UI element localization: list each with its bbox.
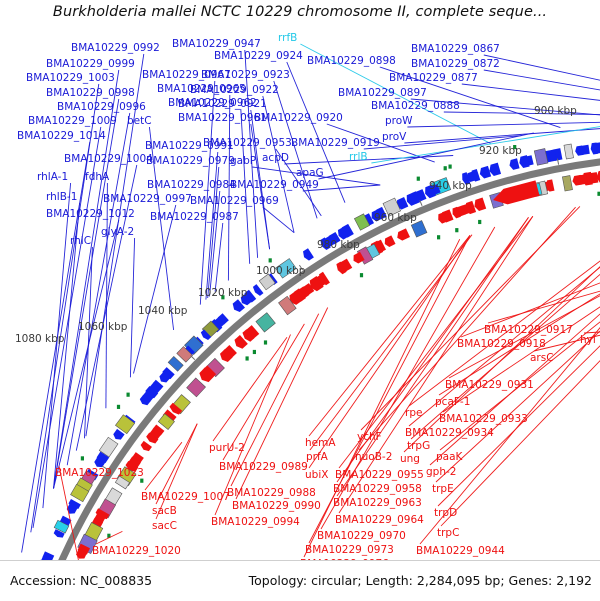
gene-label[interactable]: BMA10229_0919 xyxy=(291,138,380,149)
gene-label[interactable]: BMA10229_0867 xyxy=(411,44,500,55)
gene-label[interactable]: BMA10229_0984 xyxy=(147,180,236,191)
gene-label[interactable]: BMA10229_1020 xyxy=(92,546,181,557)
gene-label[interactable]: rhlA-1 xyxy=(37,172,68,183)
gene-label[interactable]: BMA10229_0996 xyxy=(57,102,146,113)
ruler-tick-label: 960 kbp xyxy=(374,213,417,224)
gene-label[interactable]: BMA10229_0988 xyxy=(227,488,316,499)
gene-label[interactable]: BMA10229_0973 xyxy=(305,545,394,556)
gene-label[interactable]: gabP xyxy=(230,156,256,167)
gene-label[interactable]: fdhA xyxy=(85,172,109,183)
gene-label[interactable]: BMA10229_0921 xyxy=(178,99,267,110)
gene-label[interactable]: BMA10229_1009 xyxy=(28,116,117,127)
gene-label[interactable]: purU-2 xyxy=(209,443,245,454)
gene-label[interactable]: BMA10229_0924 xyxy=(214,51,303,62)
gene-label[interactable]: rrlB xyxy=(349,152,368,163)
gene-label[interactable]: BMA10229_0872 xyxy=(411,59,500,70)
gene-label[interactable]: trpG xyxy=(407,441,430,452)
gene-label[interactable]: sacB xyxy=(152,506,177,517)
gene-label[interactable]: rhlB-1 xyxy=(46,192,77,203)
gene-label[interactable]: BMA10229_1007 xyxy=(141,492,230,503)
gene-label[interactable]: prfA xyxy=(306,452,328,463)
ruler-tick-label: 1040 kbp xyxy=(138,306,187,317)
gene-label[interactable]: BMA10229_0918 xyxy=(457,339,546,350)
gene-label[interactable]: hyi xyxy=(580,335,596,346)
gene-label[interactable]: BMA10229_0931 xyxy=(445,380,534,391)
gene-label[interactable]: BMA10229_0955 xyxy=(335,470,424,481)
topology-text: Topology: circular; Length: 2,284,095 bp… xyxy=(249,573,592,588)
gene-label[interactable]: BMA10229_0898 xyxy=(307,56,396,67)
gene-label[interactable]: BMA10229_0920 xyxy=(254,113,343,124)
gene-label[interactable]: BMA10229_0958 xyxy=(333,484,422,495)
gene-label[interactable]: BMA10229_0990 xyxy=(232,501,321,512)
gene-label[interactable]: BMA10229_0970 xyxy=(317,531,406,542)
gene-label[interactable]: trpC xyxy=(437,528,459,539)
gene-label[interactable]: BMA10229_0947 xyxy=(172,39,261,50)
gene-label[interactable]: sacC xyxy=(152,521,177,532)
gene-label[interactable]: BMA10229_1023 xyxy=(55,468,144,479)
gene-label[interactable]: BMA10229_0994 xyxy=(211,517,300,528)
gene-label[interactable]: trpD xyxy=(434,508,457,519)
ruler-tick-label: 980 kbp xyxy=(317,240,360,251)
gene-label[interactable]: BMA10229_0969 xyxy=(190,196,279,207)
gene-label[interactable]: BMA10229_0989 xyxy=(219,462,308,473)
gene-label[interactable]: pcaF-1 xyxy=(435,397,470,408)
gene-label[interactable]: nuoB-2 xyxy=(355,452,392,463)
gene-label[interactable]: BMA10229_0949 xyxy=(230,180,319,191)
gene-label[interactable]: BMA10229_0877 xyxy=(389,73,478,84)
gene-label[interactable]: rrfB xyxy=(278,33,297,44)
gene-label[interactable]: BMA10229_0917 xyxy=(484,325,573,336)
gene-label[interactable]: ychF xyxy=(357,432,382,443)
gene-label[interactable]: betC xyxy=(127,116,152,127)
gene-label[interactable]: BMA10229_0999 xyxy=(46,59,135,70)
gene-label[interactable]: BMA10229_0944 xyxy=(416,546,505,557)
gene-label[interactable]: BMA10229_0933 xyxy=(439,414,528,425)
gene-label[interactable]: BMA10229_0997 xyxy=(103,194,192,205)
gene-label[interactable]: BMA10229_1014 xyxy=(17,131,106,142)
ruler-tick-label: 1060 kbp xyxy=(78,322,127,333)
gene-label[interactable]: gph-2 xyxy=(426,467,456,478)
ruler-tick-label: 1080 kbp xyxy=(15,334,64,345)
gene-label[interactable]: BMA10229_0992 xyxy=(71,43,160,54)
footer-bar: Accession: NC_008835 Topology: circular;… xyxy=(0,560,600,601)
gene-label[interactable]: proV xyxy=(382,132,406,143)
ruler-tick-label: 900 kbp xyxy=(534,106,577,117)
gene-label[interactable]: BMA10229_0991 xyxy=(145,141,234,152)
gene-label[interactable]: acpD xyxy=(262,153,289,164)
gene-label[interactable]: paaK xyxy=(436,452,462,463)
ruler-tick-label: 1000 kbp xyxy=(256,266,305,277)
gene-label[interactable]: rhlC xyxy=(70,236,91,247)
gene-label[interactable]: BMA10229_0934 xyxy=(405,428,494,439)
gene-label[interactable]: BMA10229_0964 xyxy=(335,515,424,526)
ruler-tick-label: 940 kbp xyxy=(429,181,472,192)
ruler-tick-label: 920 kbp xyxy=(479,146,522,157)
accession-text: Accession: NC_008835 xyxy=(10,573,152,588)
gene-label[interactable]: apaG xyxy=(296,168,324,179)
gene-label[interactable]: trpE xyxy=(432,484,454,495)
gene-label[interactable]: arsC xyxy=(530,353,554,364)
gene-label[interactable]: BMA10229_0998 xyxy=(46,88,135,99)
gene-label[interactable]: BMA10229_0923 xyxy=(201,70,290,81)
gene-label[interactable]: BMA10229_0979 xyxy=(146,156,235,167)
gene-label[interactable]: BMA10229_1012 xyxy=(46,209,135,220)
page-title: Burkholderia mallei NCTC 10229 chromosom… xyxy=(0,4,600,20)
gene-label[interactable]: BMA10229_0922 xyxy=(190,85,279,96)
gene-label[interactable]: proW xyxy=(385,116,413,127)
gene-label[interactable]: hemA xyxy=(305,438,336,449)
ruler-tick-label: 1020 kbp xyxy=(198,288,247,299)
gene-label[interactable]: ung xyxy=(400,454,420,465)
gene-label[interactable]: BMA10229_1004 xyxy=(64,154,153,165)
gene-label[interactable]: glyA-2 xyxy=(101,227,134,238)
genome-map-viewer: Burkholderia mallei NCTC 10229 chromosom… xyxy=(0,0,600,600)
gene-label[interactable]: BMA10229_0963 xyxy=(333,498,422,509)
gene-label[interactable]: rpe xyxy=(405,408,422,419)
gene-label[interactable]: BMA10229_0897 xyxy=(338,88,427,99)
gene-label[interactable]: BMA10229_0987 xyxy=(150,212,239,223)
gene-label[interactable]: BMA10229_0888 xyxy=(371,101,460,112)
gene-label[interactable]: BMA10229_1003 xyxy=(26,73,115,84)
gene-label[interactable]: ubiX xyxy=(305,470,328,481)
